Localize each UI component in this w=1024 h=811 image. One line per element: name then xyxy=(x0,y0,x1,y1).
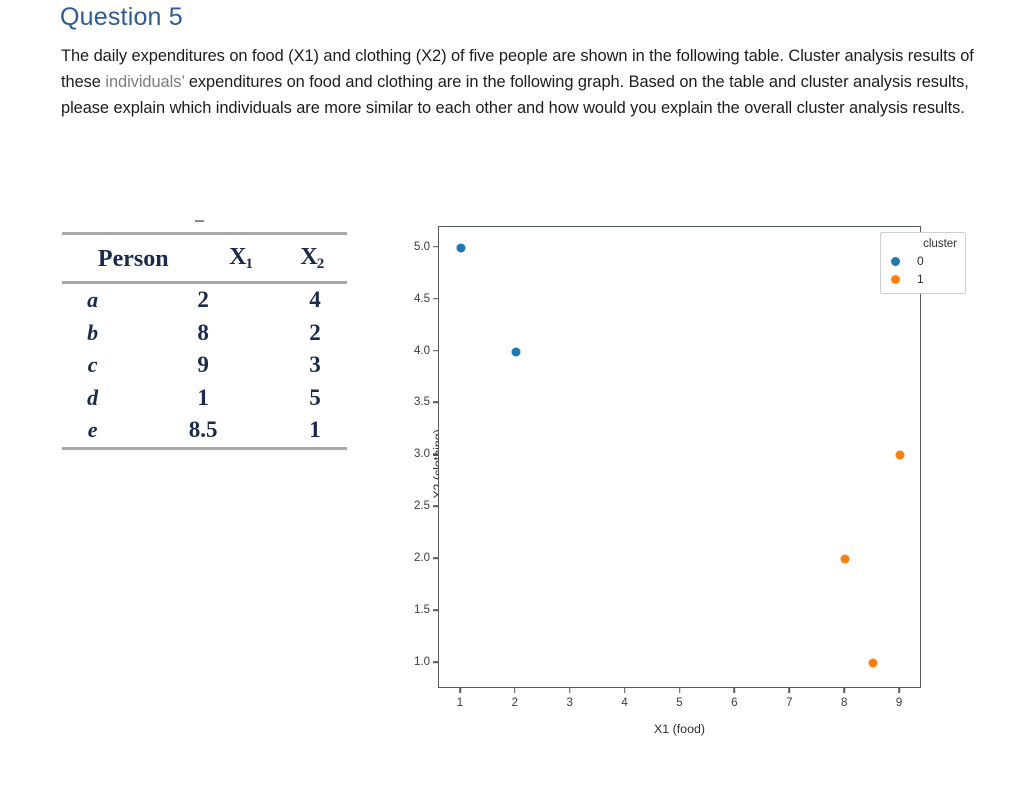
legend-entry: 0 xyxy=(888,252,958,270)
legend-entries: 01 xyxy=(888,252,958,288)
cell-person: e xyxy=(62,414,123,447)
y-tick-label: 3.5 xyxy=(414,396,430,408)
x-tick-label: 5 xyxy=(676,697,682,709)
cell-x2: 3 xyxy=(283,349,347,382)
data-point xyxy=(868,659,877,668)
legend-swatch-icon xyxy=(891,257,900,266)
x-tick-label: 4 xyxy=(621,697,627,709)
data-point xyxy=(896,451,905,460)
legend-label: 1 xyxy=(917,270,924,288)
plot-area: cluster 01 xyxy=(438,226,921,688)
question-body-text: The daily expenditures on food (X1) and … xyxy=(61,43,1013,122)
cell-x2: 2 xyxy=(283,317,347,350)
question-body-highlight: individuals’ xyxy=(105,73,184,91)
cell-x1: 8.5 xyxy=(123,414,283,447)
column-header-person: Person xyxy=(62,235,205,281)
x-tick-mark xyxy=(514,688,516,693)
data-point xyxy=(456,243,465,252)
x-tick-label: 2 xyxy=(512,697,518,709)
cluster-scatter-chart: X2 (clothing) X1 (food) 1.01.52.02.53.03… xyxy=(389,222,934,742)
x2-subscript: 2 xyxy=(317,256,325,272)
table-row: d15 xyxy=(62,382,347,415)
y-tick-label: 2.5 xyxy=(414,500,430,512)
legend-entry: 1 xyxy=(888,270,958,288)
cell-person: a xyxy=(62,284,123,317)
table-row: e8.51 xyxy=(62,414,347,447)
y-tick-label: 4.0 xyxy=(414,345,430,357)
x-tick-mark xyxy=(734,688,736,693)
y-tick-label: 2.0 xyxy=(414,552,430,564)
y-tick-label: 4.5 xyxy=(414,293,430,305)
y-tick-label: 3.0 xyxy=(414,448,430,460)
x1-base: X xyxy=(229,244,246,270)
x-tick-label: 3 xyxy=(567,697,573,709)
table: Person X1 X2 xyxy=(62,235,347,281)
x-tick-label: 9 xyxy=(896,697,902,709)
legend-title: cluster xyxy=(888,237,958,252)
x-tick-mark xyxy=(788,688,790,693)
column-header-x1: X1 xyxy=(205,235,279,281)
cell-x1: 9 xyxy=(123,349,283,382)
x-tick-mark xyxy=(843,688,845,693)
cell-person: d xyxy=(62,382,123,415)
cell-person: c xyxy=(62,349,123,382)
x-tick-label: 7 xyxy=(786,697,792,709)
legend-swatch-icon xyxy=(891,275,900,284)
cell-x1: 2 xyxy=(123,284,283,317)
cell-x1: 8 xyxy=(123,317,283,350)
x-tick-label: 8 xyxy=(841,697,847,709)
expenditure-table: Person X1 X2 a24b82c93d15e8.51 xyxy=(62,232,347,450)
table-header-row: Person X1 X2 xyxy=(62,235,347,281)
x-tick-mark xyxy=(459,688,461,693)
stray-dash-artifact xyxy=(195,220,204,222)
data-point xyxy=(511,347,520,356)
table-rule-bottom xyxy=(62,447,347,450)
x-tick-mark xyxy=(624,688,626,693)
data-point xyxy=(841,555,850,564)
table-body: a24b82c93d15e8.51 xyxy=(62,284,347,447)
x1-subscript: 1 xyxy=(245,256,253,272)
chart-legend: cluster 01 xyxy=(880,232,966,294)
x-axis-label: X1 (food) xyxy=(438,722,921,736)
cell-person: b xyxy=(62,317,123,350)
y-tick-label: 1.0 xyxy=(414,656,430,668)
y-tick-label: 1.5 xyxy=(414,604,430,616)
cell-x2: 5 xyxy=(283,382,347,415)
x-tick-label: 6 xyxy=(731,697,737,709)
cell-x2: 4 xyxy=(283,284,347,317)
y-tick-label: 5.0 xyxy=(414,241,430,253)
x-tick-mark xyxy=(569,688,571,693)
question-body-part2: expenditures on food and clothing are in… xyxy=(61,73,969,117)
table-row: c93 xyxy=(62,349,347,382)
cell-x2: 1 xyxy=(283,414,347,447)
cell-x1: 1 xyxy=(123,382,283,415)
x2-base: X xyxy=(300,244,317,270)
table-row: b82 xyxy=(62,317,347,350)
x-tick-mark xyxy=(679,688,681,693)
table-row: a24 xyxy=(62,284,347,317)
page-title: Question 5 xyxy=(60,1,183,33)
x-tick-label: 1 xyxy=(457,697,463,709)
x-tick-mark xyxy=(898,688,900,693)
column-header-x2: X2 xyxy=(279,235,347,281)
legend-label: 0 xyxy=(917,252,924,270)
